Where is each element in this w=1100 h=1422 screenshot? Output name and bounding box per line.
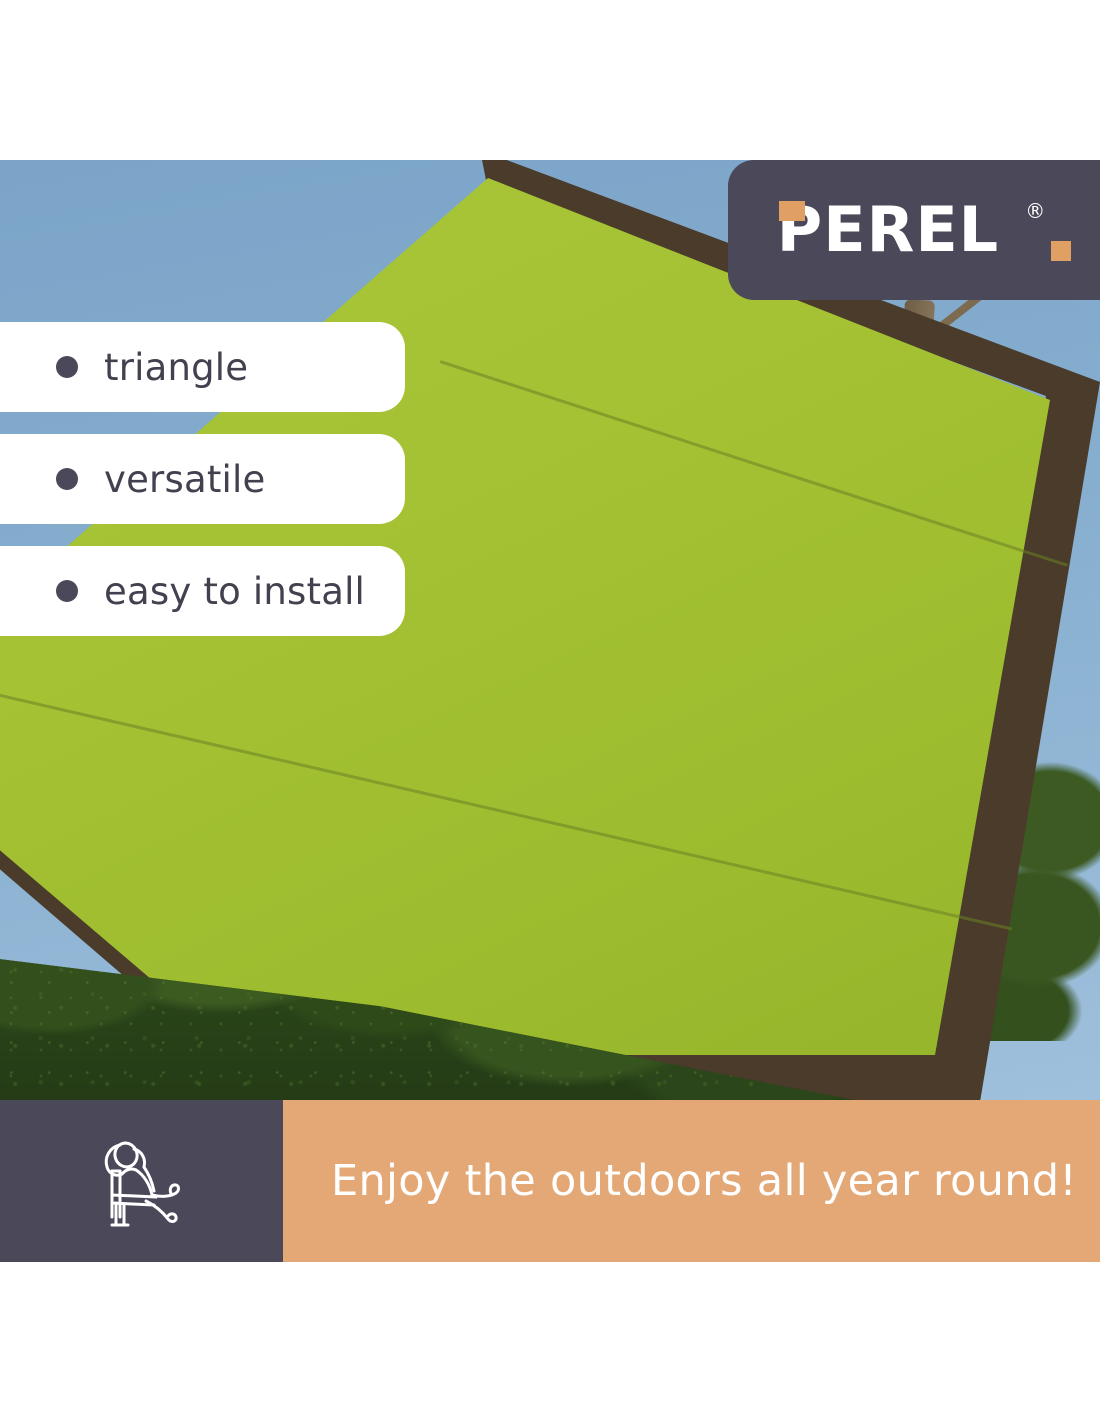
feature-list: triangle versatile easy to install: [0, 322, 405, 636]
feature-label: easy to install: [104, 570, 365, 613]
footer-icon-panel: [0, 1100, 283, 1262]
logo-accent-square-dot: [1051, 241, 1071, 261]
footer-tagline-panel: Enjoy the outdoors all year round!: [283, 1100, 1100, 1262]
bullet-icon: [56, 580, 78, 602]
feature-label: triangle: [104, 346, 248, 389]
feature-pill-versatile: versatile: [0, 434, 405, 524]
feature-pill-easy-to-install: easy to install: [0, 546, 405, 636]
footer-bar: Enjoy the outdoors all year round!: [0, 1100, 1100, 1262]
bullet-icon: [56, 468, 78, 490]
tagline: Enjoy the outdoors all year round!: [331, 1156, 1077, 1206]
brand-name: PEREL: [777, 199, 999, 261]
logo-lockup: PEREL ®: [777, 199, 1051, 261]
person-relaxing-in-chair-icon: [90, 1129, 194, 1233]
brand-logo-badge: PEREL ®: [728, 160, 1100, 300]
product-poster: PEREL ® triangle versatile easy to insta…: [0, 0, 1100, 1422]
feature-label: versatile: [104, 458, 265, 501]
feature-pill-triangle: triangle: [0, 322, 405, 412]
logo-accent-square-top: [779, 201, 805, 221]
bullet-icon: [56, 356, 78, 378]
registered-trademark-icon: ®: [1025, 201, 1045, 221]
